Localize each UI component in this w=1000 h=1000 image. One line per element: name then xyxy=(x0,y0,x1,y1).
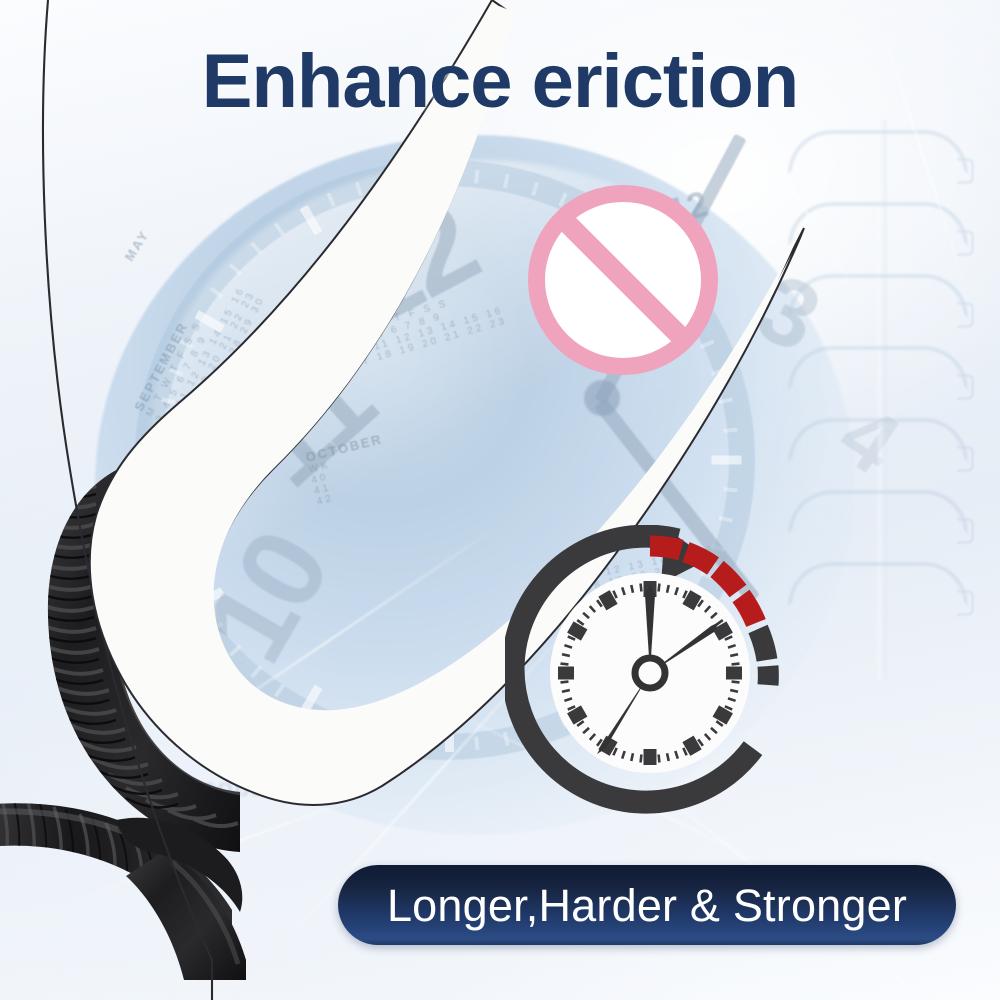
product-banner: 12 11 10 3 4 2012 MAY SEPTEMBER M T W T … xyxy=(0,0,1000,1000)
prohibition-slash xyxy=(554,210,693,349)
promo-banner[interactable]: Longer,Harder & Stronger xyxy=(338,865,956,945)
white-censor-band xyxy=(0,0,1000,1000)
timer-center-hub xyxy=(635,658,665,688)
prohibition-no-entry-icon xyxy=(528,185,718,375)
page-title: Enhance eriction xyxy=(0,38,1000,125)
clock-timer-icon xyxy=(505,525,795,815)
promo-banner-label: Longer,Harder & Stronger xyxy=(387,883,907,928)
